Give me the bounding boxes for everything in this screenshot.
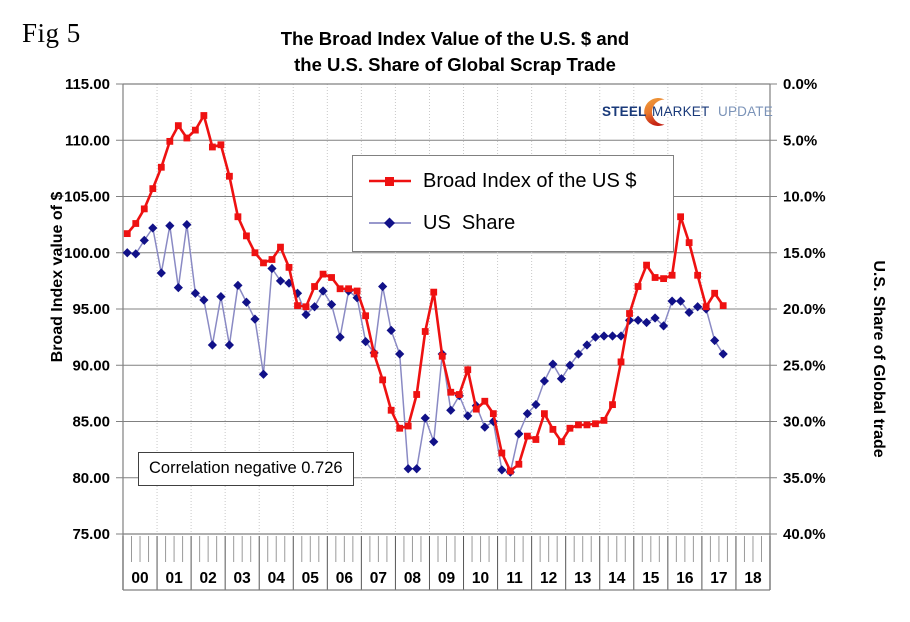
broad-index-series-marker [473,406,480,413]
broad-index-series-marker [720,302,727,309]
broad-index-series-marker [550,426,557,433]
broad-index-series-marker [703,303,710,310]
us-share-series-marker [633,316,642,325]
x-axis-year-label: 16 [676,570,694,587]
broad-index-series-marker [371,351,378,358]
y-axis-right-tick-label: 40.0% [783,526,826,543]
us-share-series-marker [182,220,191,229]
broad-index-series-marker [141,205,148,212]
legend-item-us-share: US Share [367,210,515,236]
broad-index-series-marker [532,436,539,443]
broad-index-series-marker [354,288,361,295]
x-axis-year-label: 13 [574,570,592,587]
us-share-series-marker [642,318,651,327]
x-axis-year-label: 02 [200,570,217,587]
broad-index-series-marker [252,249,259,256]
y-axis-left-tick-label: 100.00 [64,245,110,262]
legend-label-us-share: US Share [423,212,515,235]
legend-label-broad-index: Broad Index of the US $ [423,170,636,193]
broad-index-series-marker [524,433,531,440]
broad-index-series-marker [200,112,207,119]
us-share-series-marker [327,300,336,309]
us-share-series-marker [216,292,225,301]
us-share-series-marker [225,340,234,349]
us-share-series-marker [710,336,719,345]
legend-swatch-red [367,172,413,190]
broad-index-series-marker [422,328,429,335]
x-axis-year-label: 03 [234,570,252,587]
logo-word-update: UPDATE [718,104,773,119]
legend-marker-diamond-icon [367,214,413,232]
broad-index-series-marker [175,122,182,129]
y-axis-left-tick-label: 80.00 [72,470,110,487]
broad-index-series-marker [490,410,497,417]
us-share-series-marker [165,221,174,230]
y-axis-left-tick-label: 110.00 [65,132,110,149]
broad-index-series-marker [464,366,471,373]
broad-index-series-marker [618,358,625,365]
broad-index-series-marker [413,391,420,398]
us-share-series-marker [267,264,276,273]
y-axis-right-tick-label: 0.0% [783,76,817,93]
legend-item-broad-index: Broad Index of the US $ [367,168,636,194]
x-axis-year-label: 11 [506,570,523,587]
y-axis-left-tick-label: 115.00 [65,76,110,93]
us-share-series-marker [719,349,728,358]
us-share-series-marker [259,370,268,379]
broad-index-series-marker [328,274,335,281]
us-share-series-marker [446,406,455,415]
us-share-series-marker [404,464,413,473]
us-share-series-marker [242,298,251,307]
broad-index-series-marker [405,423,412,430]
us-share-series-marker [693,302,702,311]
us-share-series-marker [557,374,566,383]
broad-index-series-marker [694,272,701,279]
broad-index-series-marker [626,310,633,317]
logo-word-market: MARKET [652,104,709,119]
broad-index-series-marker [243,232,250,239]
correlation-annotation: Correlation negative 0.726 [138,452,354,486]
us-share-series-marker [318,286,327,295]
us-share-series-marker [387,326,396,335]
us-share-series-marker [233,281,242,290]
x-axis-year-label: 04 [268,570,286,587]
logo-word-steel: STEEL [602,104,647,119]
broad-index-series-marker [235,213,242,220]
x-axis-year-label: 07 [370,570,387,587]
us-share-series-marker [140,236,149,245]
y-axis-right-tick-label: 10.0% [783,189,826,206]
broad-index-series-marker [396,425,403,432]
broad-index-series-marker [481,398,488,405]
y-axis-right-tick-label: 25.0% [783,357,826,374]
x-axis-year-label: 06 [336,570,354,587]
broad-index-series-marker [498,450,505,457]
us-share-series-marker [174,283,183,292]
x-axis-year-label: 18 [744,570,762,587]
broad-index-series-marker [379,376,386,383]
broad-index-series-marker [132,220,139,227]
us-share-series-marker [378,282,387,291]
us-share-series-marker [514,429,523,438]
broad-index-series-marker [149,185,156,192]
broad-index-series-marker [686,239,693,246]
y-axis-left-tick-label: 75.00 [72,526,110,543]
broad-index-series-marker [362,312,369,319]
us-share-series-marker [250,315,259,324]
chart-plot-area: 115.000.0%110.005.0%105.0010.0%100.0015.… [0,0,910,622]
us-share-series-marker [480,423,489,432]
broad-index-series-marker [447,389,454,396]
broad-index-series-marker [456,391,463,398]
broad-index-series-marker [183,135,190,142]
us-share-series-marker [148,223,157,232]
us-share-series-marker [157,268,166,277]
broad-index-series-marker [584,421,591,428]
broad-index-series-marker [192,127,199,134]
broad-index-series-marker [575,421,582,428]
x-axis-year-label: 05 [302,570,320,587]
us-share-series-marker [335,333,344,342]
chart-svg: 115.000.0%110.005.0%105.0010.0%100.0015.… [0,0,910,622]
broad-index-series-marker [592,420,599,427]
y-axis-left-tick-label: 90.00 [72,357,110,374]
broad-index-series-marker [643,262,650,269]
us-share-series-marker [208,340,217,349]
x-axis-year-label: 09 [438,570,456,587]
broad-index-series-marker [635,283,642,290]
x-axis-year-label: 12 [540,570,557,587]
us-share-series-marker [395,349,404,358]
broad-index-series-marker [711,290,718,297]
broad-index-series-marker [345,285,352,292]
broad-index-series-marker [286,264,293,271]
us-share-series-marker [497,465,506,474]
us-share-series-marker [599,331,608,340]
y-axis-left-tick-label: 85.00 [72,414,110,431]
broad-index-series-marker [303,303,310,310]
broad-index-series-marker [260,259,267,266]
x-axis-year-label: 14 [608,570,626,587]
us-share-series-marker [540,376,549,385]
us-share-series-marker [276,276,285,285]
steel-market-update-logo: STEEL MARKET UPDATE [594,97,769,129]
broad-index-series-marker [660,275,667,282]
x-axis-year-label: 08 [404,570,422,587]
broad-index-series-marker [277,244,284,251]
broad-index-series-marker [669,272,676,279]
broad-index-series-marker [337,285,344,292]
x-axis-year-label: 01 [165,570,183,587]
us-share-series-marker [412,464,421,473]
chart-legend: Broad Index of the US $ US Share [352,155,674,252]
y-axis-left-tick-label: 95.00 [72,301,110,318]
broad-index-series-marker [218,141,225,148]
broad-index-series-marker [311,283,318,290]
broad-index-series-marker [601,417,608,424]
legend-marker-square-icon [367,172,413,190]
broad-index-series-marker [541,410,548,417]
legend-swatch-blue [367,214,413,232]
y-axis-left-tick-label: 105.00 [64,189,110,206]
broad-index-series-marker [166,138,173,145]
broad-index-series-marker [609,401,616,408]
us-share-series-marker [548,360,557,369]
broad-index-series-marker [677,213,684,220]
x-axis-year-label: 17 [710,570,727,587]
us-share-series-marker [429,437,438,446]
y-axis-right-tick-label: 30.0% [783,414,826,431]
broad-index-series-marker [320,271,327,278]
y-axis-right-tick-label: 5.0% [783,132,817,149]
broad-index-series-marker [294,302,301,309]
broad-index-series-marker [439,353,446,360]
y-axis-right-tick-label: 15.0% [783,245,826,262]
broad-index-series-marker [269,256,276,263]
broad-index-series-marker [507,468,514,475]
broad-index-series-marker [388,407,395,414]
x-axis-year-label: 15 [642,570,660,587]
broad-index-series-marker [558,438,565,445]
us-share-series-marker [608,331,617,340]
broad-index-series-marker [567,425,574,432]
broad-index-series-marker [430,289,437,296]
broad-index-series-marker [515,461,522,468]
us-share-series-marker [123,248,132,257]
y-axis-right-tick-label: 35.0% [783,470,826,487]
broad-index-series-marker [652,274,659,281]
broad-index-series-marker [158,164,165,171]
y-axis-right-tick-label: 20.0% [783,301,826,318]
x-axis-year-label: 10 [472,570,489,587]
broad-index-series-marker [209,144,216,151]
us-share-series-marker [131,249,140,258]
us-share-series-marker [668,297,677,306]
broad-index-series-marker [124,230,131,237]
broad-index-series-marker [226,173,233,180]
x-axis-year-label: 00 [131,570,148,587]
